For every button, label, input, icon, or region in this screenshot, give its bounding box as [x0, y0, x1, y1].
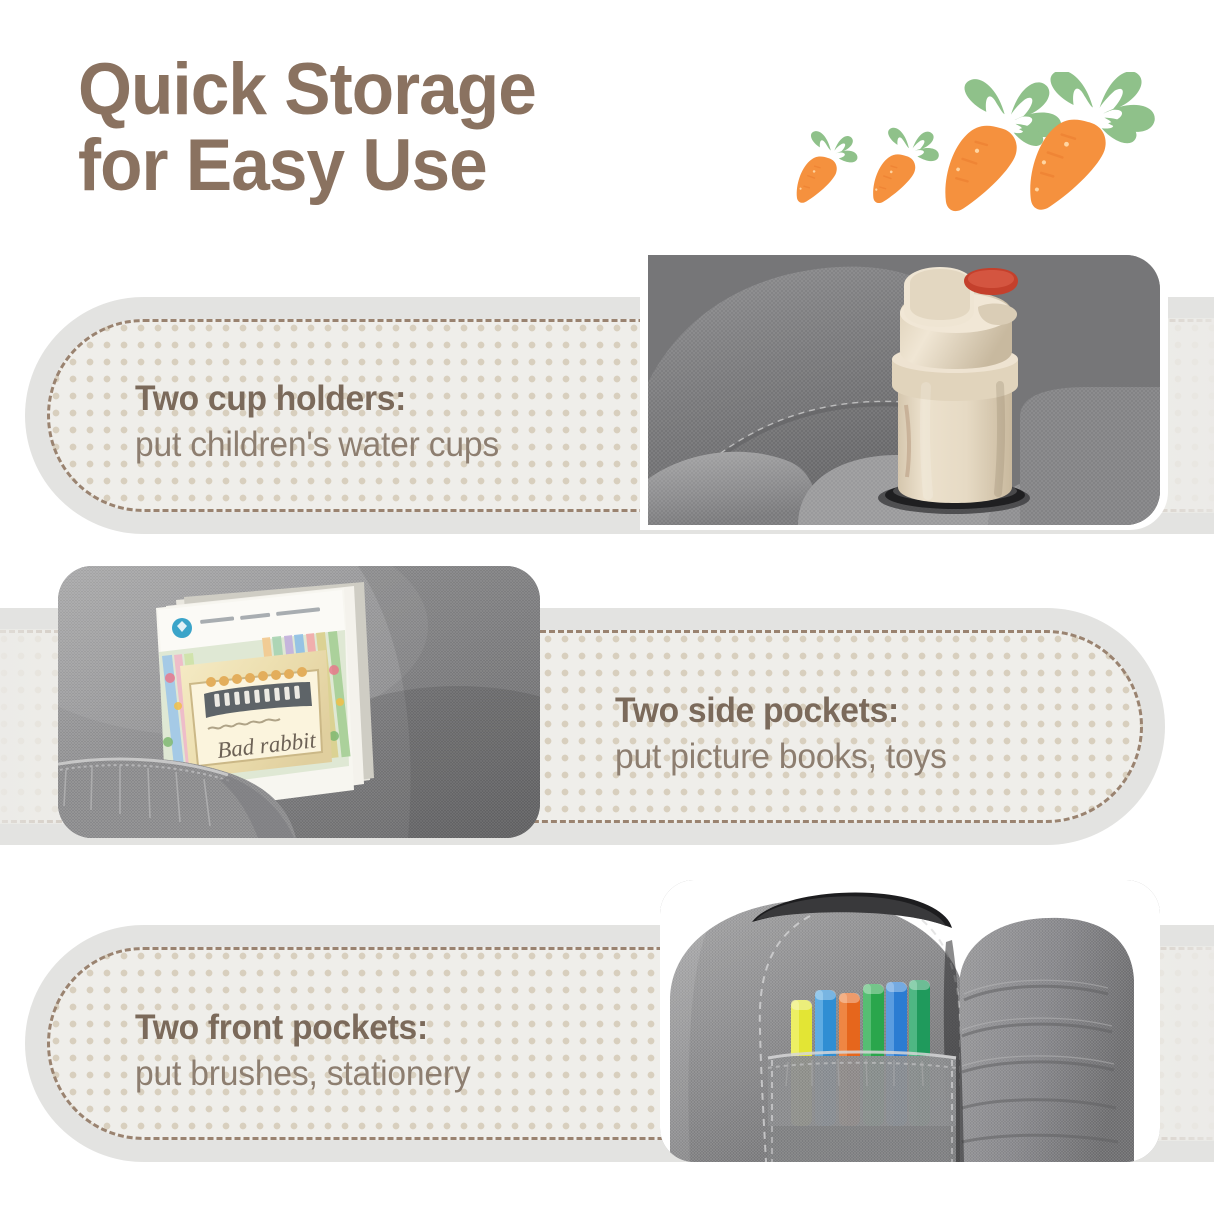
feature-photo-cup-holders — [648, 255, 1160, 525]
carrots-icon — [788, 72, 1158, 237]
feature-text-front-pockets: Two front pockets: put brushes, statione… — [135, 1007, 485, 1097]
feature-photo-side-pockets: Bad rabbit — [58, 566, 540, 838]
feature-photo-front-pockets — [660, 880, 1160, 1162]
feature-title-side-pockets: Two side pockets: — [615, 690, 947, 731]
page-title: Quick Storage for Easy Use — [78, 55, 705, 201]
infographic-root: Quick Storage for Easy Use — [0, 0, 1214, 1214]
feature-subtitle-cup-holders: put children's water cups — [135, 422, 499, 468]
feature-text-side-pockets: Two side pockets: put picture books, toy… — [615, 690, 961, 780]
feature-text-cup-holders: Two cup holders: put children's water cu… — [135, 378, 514, 468]
page-title-line-1: Quick Storage — [78, 55, 705, 125]
feature-subtitle-side-pockets: put picture books, toys — [615, 734, 947, 780]
page-title-line-2: for Easy Use — [78, 131, 705, 201]
feature-subtitle-front-pockets: put brushes, stationery — [135, 1051, 471, 1097]
feature-title-cup-holders: Two cup holders: — [135, 378, 499, 419]
feature-title-front-pockets: Two front pockets: — [135, 1007, 471, 1048]
